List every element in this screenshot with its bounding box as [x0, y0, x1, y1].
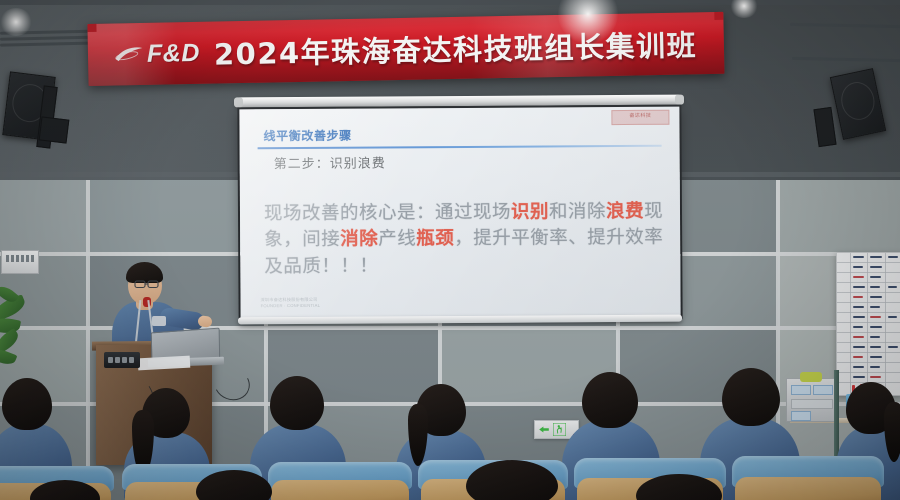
av-equipment-rack [786, 378, 838, 422]
fd-logo: F&D [114, 40, 200, 67]
projection-screen: 奋达科技 线平衡改善步骤 第二步：识别浪费 现场改善的核心是：通过现场识别和消除… [239, 107, 680, 320]
slide-body-run-2: 和消除 [549, 201, 606, 222]
slide-body-run-6: 产线 [378, 229, 416, 250]
yellow-object [800, 372, 822, 382]
slide-body-run-7: 瓶颈 [416, 228, 454, 249]
banner-title: 2024年珠海奋达科技班组长集训班 [213, 22, 697, 73]
slide-body-run-1: 识别 [511, 201, 549, 222]
breaker-box [1, 250, 39, 274]
classroom-photo: F&D 2024年珠海奋达科技班组长集训班 [0, 0, 900, 500]
slide-corner-logo-text: 奋达科技 [612, 111, 668, 122]
running-man-icon [553, 423, 566, 436]
slide-corner-logo: 奋达科技 [611, 110, 669, 125]
attendee-0-head [2, 378, 52, 430]
slide-body-run-0: 现场改善的核心是：通过现场 [264, 202, 511, 225]
attendee-9-head [270, 376, 324, 430]
slide-heading: 线平衡改善步骤 [263, 127, 351, 145]
slide-heading-rule [258, 145, 662, 149]
slide-footer: 深圳市奋达科技股份有限公司 FOUNDER · CONFIDENTIAL [261, 297, 321, 310]
arrow-left-icon [538, 424, 550, 435]
attendee-11-head [582, 372, 638, 428]
name-badge [152, 316, 166, 326]
whiteboard-schedule [836, 252, 900, 396]
fd-logo-text: F&D [147, 40, 200, 66]
speaker-left-mount [39, 116, 70, 143]
chair-3[interactable] [268, 462, 412, 500]
swoosh-icon [114, 44, 144, 65]
event-banner: F&D 2024年珠海奋达科技班组长集训班 [87, 12, 724, 86]
slide-footer-line2: FOUNDER · CONFIDENTIAL [261, 303, 321, 309]
ceiling-edge [0, 0, 900, 5]
slide-subheading: 第二步：识别浪费 [274, 152, 386, 172]
slide-body-run-5: 消除 [340, 229, 378, 250]
slide-body-text: 现场改善的核心是：通过现场识别和消除浪费现象，间接消除产线瓶颈，提升平衡率、提升… [264, 199, 664, 280]
slide-body-run-3: 浪费 [606, 201, 644, 222]
glasses-icon [134, 279, 162, 290]
attendee-12-head [722, 368, 780, 426]
chair-6[interactable] [732, 456, 884, 500]
audio-mixer [104, 352, 140, 368]
